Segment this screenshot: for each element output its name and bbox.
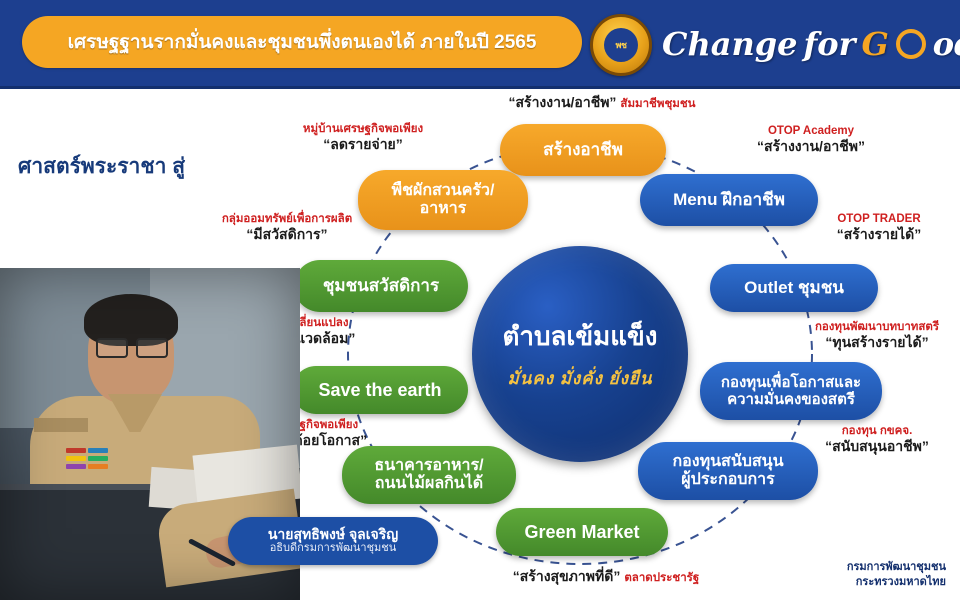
footer-credit: กรมการพัฒนาชุมชน กระทรวงมหาดไทย (847, 560, 946, 590)
label-fund-income: กองทุนพัฒนาบทบาทสตรี “ทุนสร้างรายได้” (796, 320, 958, 352)
node-vegetable-food-label: พืชผักสวนครัว/ อาหาร (392, 182, 495, 219)
node-menu-training[interactable]: Menu ฝึกอาชีพ (640, 174, 818, 226)
node-outlet-community-label: Outlet ชุมชน (744, 278, 844, 298)
node-create-career[interactable]: สร้างอาชีพ (500, 124, 666, 176)
label-reduce-expense-text: “ลดรายจ่าย” (268, 136, 458, 154)
node-save-the-earth-label: Save the earth (318, 380, 441, 401)
header-banner: เศรษฐฐานรากมั่นคงและชุมชนพึ่งตนเองได้ ภา… (0, 0, 960, 89)
person-name-pill: นายสุทธิพงษ์ จุลเจริญ อธิบดีกรมการพัฒนาช… (228, 517, 438, 565)
label-support-career-text: “สนับสนุนอาชีพ” (796, 438, 958, 456)
node-menu-training-label: Menu ฝึกอาชีพ (673, 190, 785, 210)
label-fund-income-text: “ทุนสร้างรายได้” (796, 334, 958, 352)
cdd-logo-label: พช (604, 28, 638, 62)
center-subtitle: มั่นคง มั่งคั่ง ยั่งยืน (508, 365, 653, 392)
label-reduce-expense-source: หมู่บ้านเศรษฐกิจพอเพียง (268, 122, 458, 136)
slogan-change-for-good: Change for God (662, 20, 960, 68)
slogan-for: for (803, 25, 855, 63)
label-support-career: กองทุน กขคจ. “สนับสนุนอาชีพ” (796, 424, 958, 456)
node-save-the-earth[interactable]: Save the earth (292, 366, 468, 414)
cdd-logo-icon: พช (590, 14, 652, 76)
center-node: ตำบลเข้มแข็ง มั่นคง มั่งคั่ง ยั่งยืน (472, 246, 688, 462)
label-otop-academy-source: OTOP Academy (718, 124, 904, 138)
footer-line-2: กระทรวงมหาดไทย (847, 575, 946, 590)
label-otop-academy: OTOP Academy “สร้างงาน/อาชีพ” (718, 124, 904, 156)
royal-science-arrow: ศาสตร์พระราชา สู่ (0, 130, 300, 208)
footer-line-1: กรมการพัฒนาชุมชน (847, 560, 946, 575)
label-welfare: กลุ่มออมทรัพย์เพื่อการผลิต “มีสวัสดิการ” (184, 212, 390, 244)
label-health: “สร้างสุขภาพที่ดี”ตลาดประชารัฐ (456, 566, 756, 588)
headline-text: เศรษฐฐานรากมั่นคงและชุมชนพึ่งตนเองได้ ภา… (68, 27, 537, 57)
label-create-job: “สร้างงาน/อาชีพ”สัมมาชีพชุมชน (452, 92, 752, 114)
person-position: อธิบดีกรมการพัฒนาชุมชน (270, 542, 397, 555)
label-health-source: ตลาดประชารัฐ (624, 572, 699, 584)
label-support-career-source: กองทุน กขคจ. (796, 424, 958, 438)
label-create-job-source: สัมมาชีพชุมชน (620, 98, 695, 110)
label-otop-trader: OTOP TRADER “สร้างรายได้” (800, 212, 958, 244)
headline-pill: เศรษฐฐานรากมั่นคงและชุมชนพึ่งตนเองได้ ภา… (22, 16, 582, 68)
node-community-welfare-label: ชุมชนสวัสดิการ (323, 276, 439, 296)
arrow-label: ศาสตร์พระราชา สู่ (18, 150, 248, 183)
node-fund-opportunity[interactable]: กองทุนเพื่อโอกาสและ ความมั่นคงของสตรี (700, 362, 882, 420)
label-reduce-expense: หมู่บ้านเศรษฐกิจพอเพียง “ลดรายจ่าย” (268, 122, 458, 154)
node-food-bank[interactable]: ธนาคารอาหาร/ ถนนไม้ผลกินได้ (342, 446, 516, 504)
node-fund-opportunity-label: กองทุนเพื่อโอกาสและ ความมั่นคงของสตรี (721, 374, 861, 409)
node-community-welfare[interactable]: ชุมชนสวัสดิการ (294, 260, 468, 312)
node-green-market[interactable]: Green Market (496, 508, 668, 556)
slogan-g: G (861, 25, 888, 63)
label-health-text: “สร้างสุขภาพที่ดี” (513, 568, 621, 584)
label-welfare-text: “มีสวัสดิการ” (184, 226, 390, 244)
slogan-change: Change (662, 25, 797, 63)
person-name: นายสุทธิพงษ์ จุลเจริญ (268, 527, 398, 542)
label-create-job-text: “สร้างงาน/อาชีพ” (509, 94, 617, 110)
label-otop-academy-text: “สร้างงาน/อาชีพ” (718, 138, 904, 156)
center-title: ตำบลเข้มแข็ง (503, 316, 658, 357)
slogan-od: od (933, 25, 960, 63)
node-food-bank-label: ธนาคารอาหาร/ ถนนไม้ผลกินได้ (374, 457, 483, 494)
node-fund-support[interactable]: กองทุนสนับสนุน ผู้ประกอบการ (638, 442, 818, 500)
label-otop-trader-source: OTOP TRADER (800, 212, 958, 226)
node-fund-support-label: กองทุนสนับสนุน ผู้ประกอบการ (672, 453, 783, 490)
node-create-career-label: สร้างอาชีพ (543, 140, 623, 160)
label-otop-trader-text: “สร้างรายได้” (800, 226, 958, 244)
diagram-canvas: เศรษฐฐานรากมั่นคงและชุมชนพึ่งตนเองได้ ภา… (0, 0, 960, 600)
node-green-market-label: Green Market (524, 522, 639, 543)
slogan-o-ring-icon (896, 29, 926, 59)
label-fund-income-source: กองทุนพัฒนาบทบาทสตรี (796, 320, 958, 334)
node-outlet-community[interactable]: Outlet ชุมชน (710, 264, 878, 312)
label-welfare-source: กลุ่มออมทรัพย์เพื่อการผลิต (184, 212, 390, 226)
